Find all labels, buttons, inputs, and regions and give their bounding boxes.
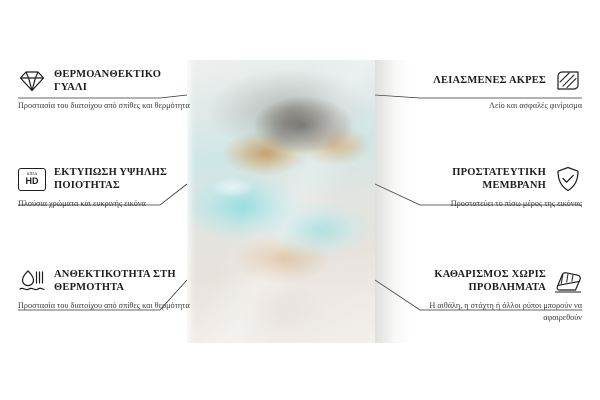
heat-drop-icon xyxy=(18,267,46,295)
feature-head: ΑΝΘΕΚΤΙΚΟΤΗΤΑ ΣΤΗ ΘΕΡΜΟΤΗΤΑ xyxy=(18,266,194,296)
diamond-icon xyxy=(18,67,46,95)
feature-head: ΛΕΙΑΣΜΕΝΕΣ ΑΚΡΕΣ xyxy=(406,66,582,96)
infographic-canvas: ΘΕΡΜΟΑΝΘΕΚΤΙΚΟ ΓΥΑΛΙ Προστασία του διατο… xyxy=(0,0,600,400)
feature-heat-durability: ΑΝΘΕΚΤΙΚΟΤΗΤΑ ΣΤΗ ΘΕΡΜΟΤΗΤΑ Προστασία το… xyxy=(18,266,194,312)
feature-high-quality-print: ultra HD ΕΚΤΥΠΩΣΗ ΥΨΗΛΗΣ ΠΟΙΟΤΗΤΑΣ Πλούσ… xyxy=(18,164,194,210)
feature-head: ΚΑΘΑΡΙΣΜΟΣ ΧΩΡΙΣ ΠΡΟΒΛΗΜΑΤΑ xyxy=(406,266,582,296)
feature-title: ΑΝΘΕΚΤΙΚΟΤΗΤΑ ΣΤΗ ΘΕΡΜΟΤΗΤΑ xyxy=(54,268,194,294)
feature-desc: Προστατεύει το πίσω μέρος της εικόνας xyxy=(406,198,582,210)
product-image xyxy=(187,60,375,343)
feature-title: ΠΡΟΣΤΑΤΕΥΤΙΚΗ ΜΕΜΒΡΑΝΗ xyxy=(406,166,546,192)
feature-easy-cleaning: ΚΑΘΑΡΙΣΜΟΣ ΧΩΡΙΣ ΠΡΟΒΛΗΜΑΤΑ Η αιθάλη, η … xyxy=(406,266,582,324)
shield-icon xyxy=(554,165,582,193)
feature-title: ΕΚΤΥΠΩΣΗ ΥΨΗΛΗΣ ΠΟΙΟΤΗΤΑΣ xyxy=(54,166,194,192)
smooth-edges-icon xyxy=(554,67,582,95)
product-artwork xyxy=(187,60,375,343)
feature-head: ΘΕΡΜΟΑΝΘΕΚΤΙΚΟ ΓΥΑΛΙ xyxy=(18,66,194,96)
feature-desc: Προστασία του διατοίχου από σπίθες και θ… xyxy=(18,300,194,312)
sponge-clean-icon xyxy=(554,267,582,295)
feature-title: ΛΕΙΑΣΜΕΝΕΣ ΑΚΡΕΣ xyxy=(433,74,546,87)
feature-desc: Προστασία του διατοίχου από σπίθες και θ… xyxy=(18,100,194,112)
feature-desc: Λείο και ασφαλές φινίρισμα xyxy=(406,100,582,112)
hd-badge: ultra HD xyxy=(18,168,46,191)
feature-head: ΠΡΟΣΤΑΤΕΥΤΙΚΗ ΜΕΜΒΡΑΝΗ xyxy=(406,164,582,194)
ultra-hd-icon: ultra HD xyxy=(18,165,46,193)
feature-smoothed-edges: ΛΕΙΑΣΜΕΝΕΣ ΑΚΡΕΣ Λείο και ασφαλές φινίρι… xyxy=(406,66,582,112)
feature-protective-membrane: ΠΡΟΣΤΑΤΕΥΤΙΚΗ ΜΕΜΒΡΑΝΗ Προστατεύει το πί… xyxy=(406,164,582,210)
feature-title: ΘΕΡΜΟΑΝΘΕΚΤΙΚΟ ΓΥΑΛΙ xyxy=(54,68,194,94)
feature-desc: Η αιθάλη, η στάχτη ή άλλοι ρύποι μπορούν… xyxy=(406,300,582,324)
feature-heat-resistant-glass: ΘΕΡΜΟΑΝΘΕΚΤΙΚΟ ΓΥΑΛΙ Προστασία του διατο… xyxy=(18,66,194,112)
feature-title: ΚΑΘΑΡΙΣΜΟΣ ΧΩΡΙΣ ΠΡΟΒΛΗΜΑΤΑ xyxy=(406,268,546,294)
feature-desc: Πλούσια χρώματα και ευκρινής εικόνα xyxy=(18,198,194,210)
feature-head: ultra HD ΕΚΤΥΠΩΣΗ ΥΨΗΛΗΣ ΠΟΙΟΤΗΤΑΣ xyxy=(18,164,194,194)
hd-label: HD xyxy=(26,177,39,186)
